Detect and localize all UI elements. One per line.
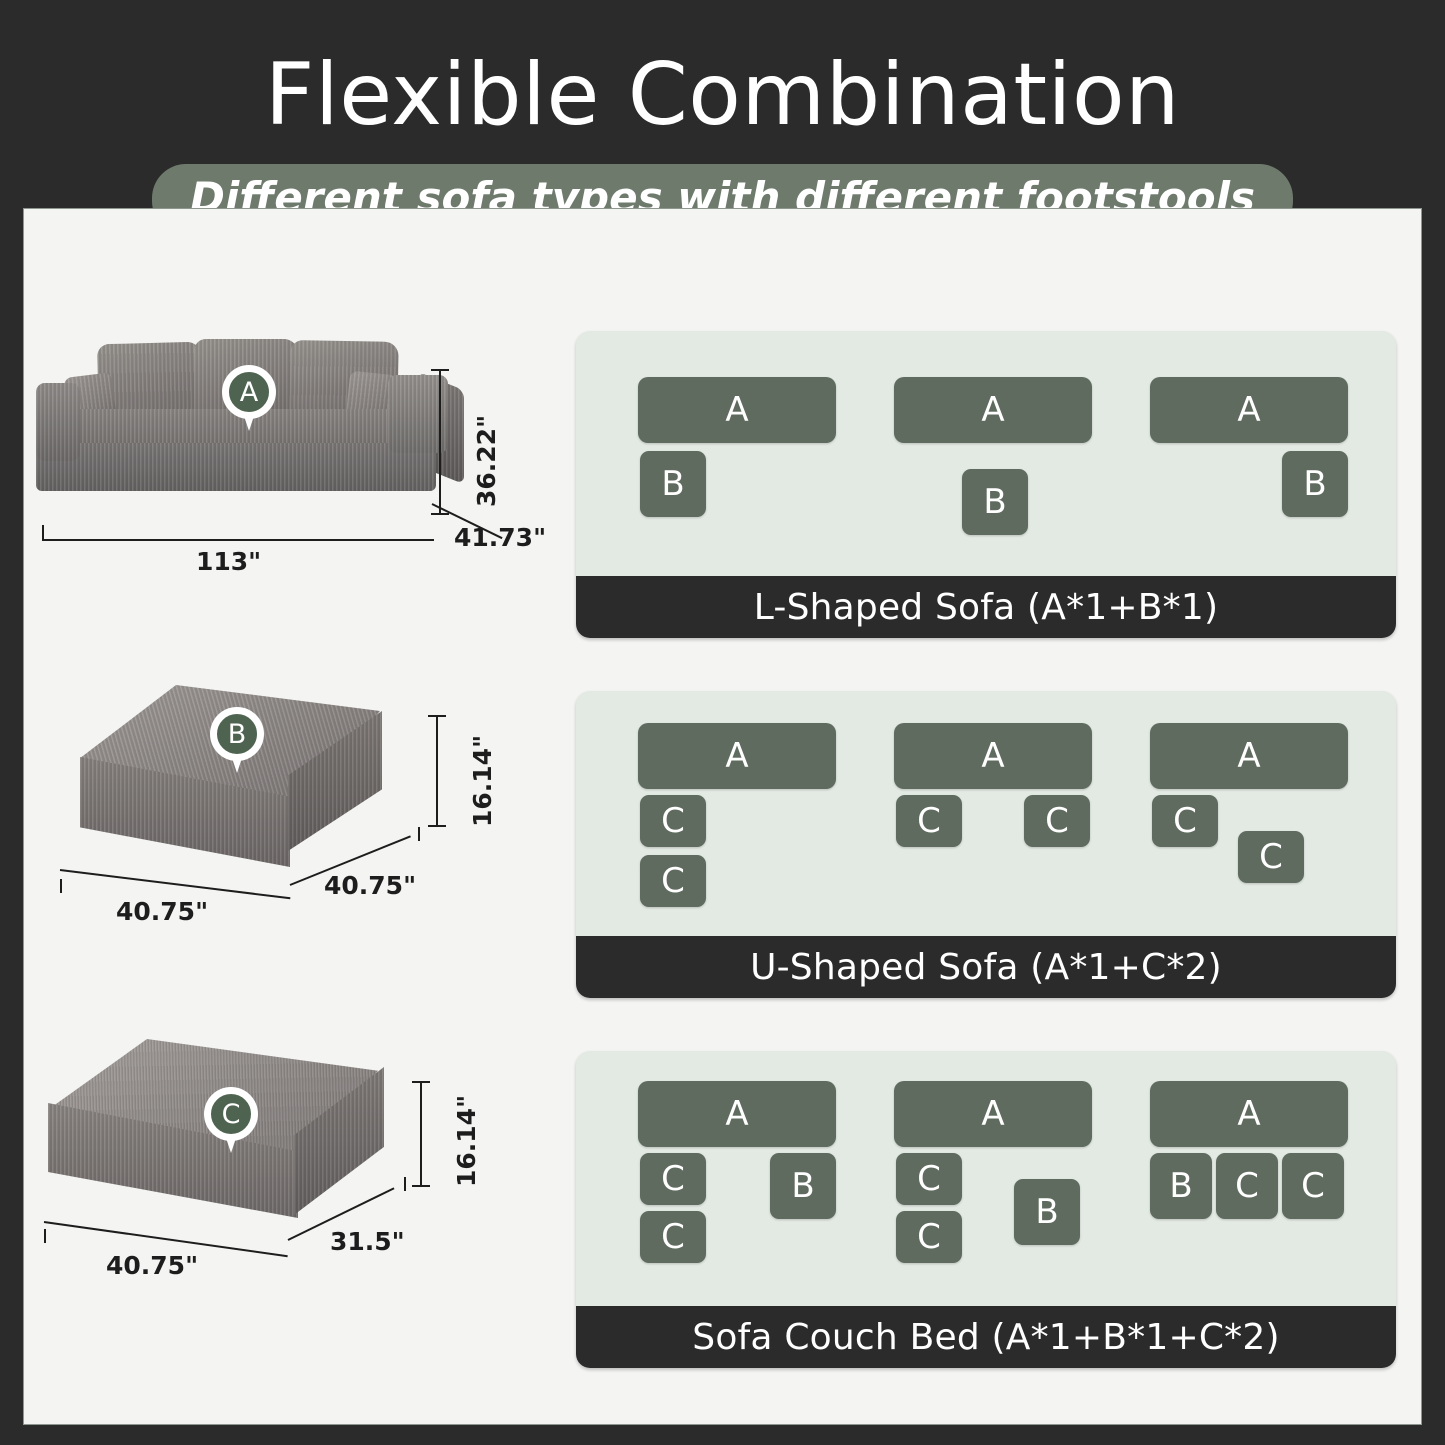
- dim-depth-label: 31.5": [330, 1227, 405, 1256]
- dim-tick: [431, 369, 449, 371]
- product-card-footstool-c: C 40.75" 31.5" 16.14": [24, 1029, 569, 1304]
- dim-height-line: [420, 1081, 422, 1187]
- combination-panels: ABABAB L-Shaped Sofa (A*1+B*1) ACCACCACC…: [576, 209, 1423, 1424]
- dim-tick: [428, 715, 446, 717]
- panel-l-shaped-sofa[interactable]: ABABAB L-Shaped Sofa (A*1+B*1): [576, 331, 1396, 638]
- module-block-a: A: [1150, 1081, 1348, 1147]
- dim-width-label: 40.75": [116, 897, 208, 926]
- pin-label: B: [215, 712, 259, 756]
- module-block-a: A: [638, 377, 836, 443]
- module-block-c: C: [1152, 795, 1218, 847]
- module-block-b: B: [1014, 1179, 1080, 1245]
- module-block-c: C: [1282, 1153, 1344, 1219]
- dim-depth-label: 40.75": [324, 871, 416, 900]
- module-block-a: A: [1150, 723, 1348, 789]
- dim-tick: [412, 1081, 430, 1083]
- module-block-c: C: [640, 1211, 706, 1263]
- dim-tick: [412, 1185, 430, 1187]
- module-block-a: A: [638, 1081, 836, 1147]
- page-title: Flexible Combination: [0, 0, 1445, 140]
- dim-tick: [431, 513, 449, 515]
- panel-caption: L-Shaped Sofa (A*1+B*1): [576, 576, 1396, 638]
- panel-sofa-couch-bed[interactable]: ACCBACCBABCC Sofa Couch Bed (A*1+B*1+C*2…: [576, 1051, 1396, 1368]
- sofa-arm-left: [36, 383, 80, 461]
- content-sheet: A 113" 41.73" 36.22": [23, 208, 1422, 1425]
- dim-height-label: 36.22": [472, 415, 501, 507]
- marker-pin-a: A: [222, 365, 276, 431]
- marker-pin-b: B: [210, 707, 264, 773]
- dim-tick: [60, 879, 62, 893]
- module-block-a: A: [894, 377, 1092, 443]
- pin-label: C: [209, 1092, 253, 1136]
- module-block-b: B: [1150, 1153, 1212, 1219]
- dim-height-label: 16.14": [452, 1095, 481, 1187]
- product-card-sofa: A 113" 41.73" 36.22": [24, 327, 569, 587]
- module-block-b: B: [962, 469, 1028, 535]
- panel-u-shaped-sofa[interactable]: ACCACCACC U-Shaped Sofa (A*1+C*2): [576, 691, 1396, 998]
- marker-pin-c: C: [204, 1087, 258, 1153]
- panel-diagram-area: ABABAB: [576, 331, 1396, 581]
- pin-label: A: [227, 370, 271, 414]
- dim-width-label: 113": [196, 547, 261, 576]
- product-card-footstool-b: B 40.75" 40.75" 16.14": [24, 679, 569, 939]
- panel-diagram-area: ACCBACCBABCC: [576, 1051, 1396, 1306]
- module-block-c: C: [640, 1153, 706, 1205]
- dim-width-line: [42, 539, 434, 541]
- product-column: A 113" 41.73" 36.22": [24, 209, 569, 1424]
- module-block-c: C: [896, 1153, 962, 1205]
- module-block-b: B: [1282, 451, 1348, 517]
- module-block-c: C: [896, 795, 962, 847]
- module-block-a: A: [894, 723, 1092, 789]
- module-block-a: A: [638, 723, 836, 789]
- dim-tick: [404, 1177, 406, 1191]
- module-block-c: C: [640, 795, 706, 847]
- dim-tick: [428, 825, 446, 827]
- module-block-c: C: [896, 1211, 962, 1263]
- footstool-c-illustration: C: [24, 1029, 504, 1304]
- panel-diagram-area: ACCACCACC: [576, 691, 1396, 941]
- module-block-b: B: [770, 1153, 836, 1219]
- module-block-a: A: [894, 1081, 1092, 1147]
- module-block-c: C: [1238, 831, 1304, 883]
- dim-height-label: 16.14": [468, 735, 497, 827]
- panel-caption: U-Shaped Sofa (A*1+C*2): [576, 936, 1396, 998]
- module-block-a: A: [1150, 377, 1348, 443]
- module-block-c: C: [1024, 795, 1090, 847]
- dim-depth-label: 41.73": [454, 523, 546, 552]
- panel-caption: Sofa Couch Bed (A*1+B*1+C*2): [576, 1306, 1396, 1368]
- dim-tick: [44, 1229, 46, 1243]
- dim-height-line: [436, 715, 438, 827]
- dim-width-label: 40.75": [106, 1251, 198, 1280]
- dim-tick: [418, 827, 420, 841]
- dim-tick: [432, 539, 434, 541]
- module-block-c: C: [1216, 1153, 1278, 1219]
- sofa-illustration: A: [24, 327, 504, 587]
- poster-root: Flexible Combination Different sofa type…: [0, 0, 1445, 1445]
- footstool-b-illustration: B: [24, 679, 504, 939]
- module-block-b: B: [640, 451, 706, 517]
- module-block-c: C: [640, 855, 706, 907]
- dim-height-line: [439, 369, 441, 515]
